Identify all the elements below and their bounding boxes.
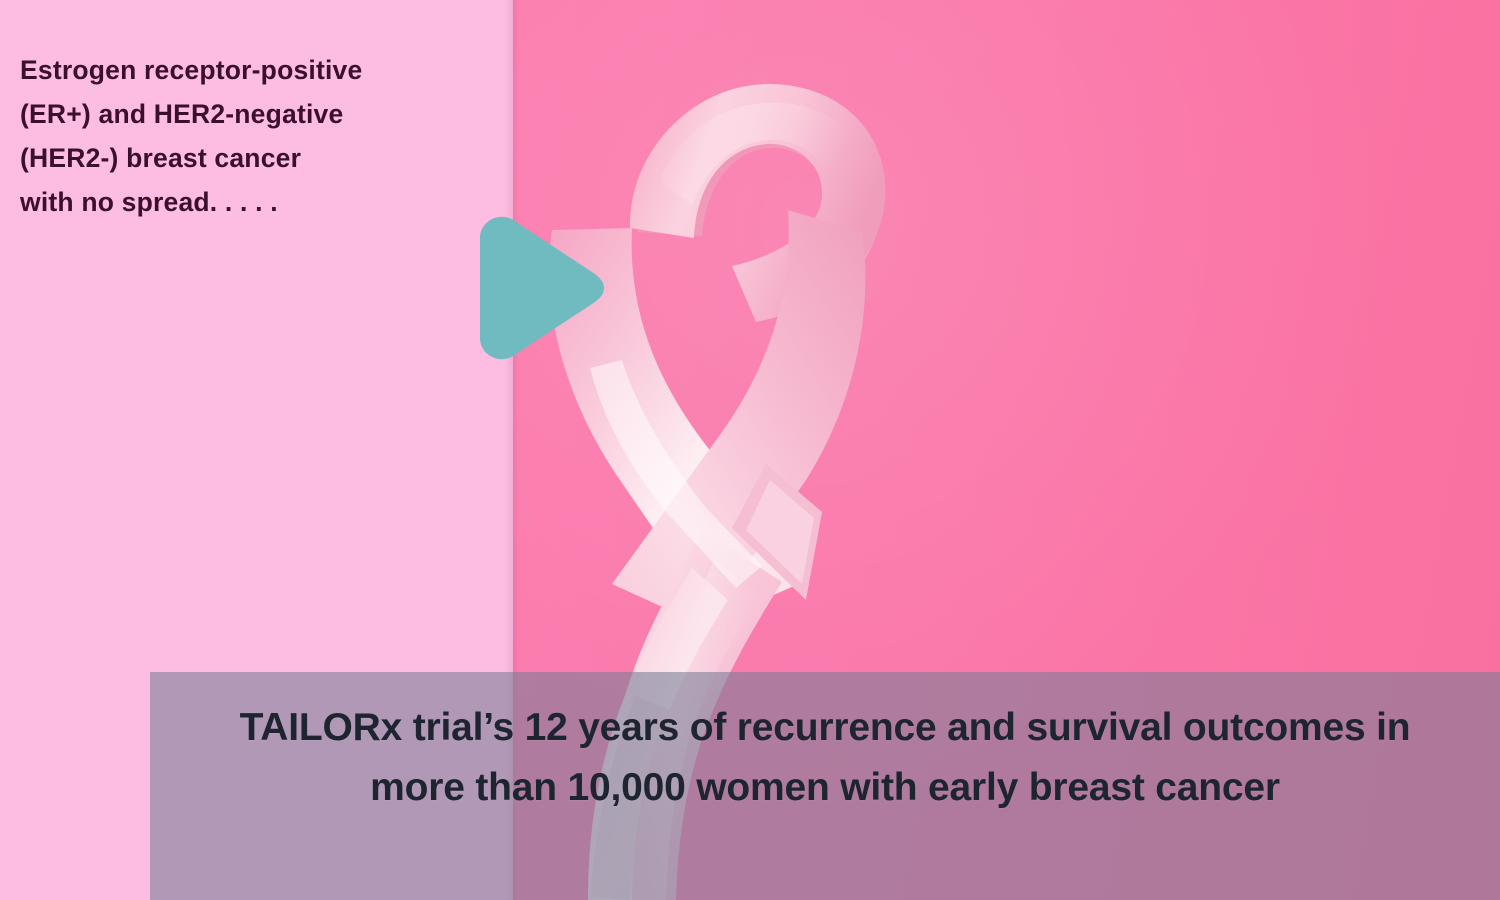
caption-headline: TAILORx trial’s 12 years of recurrence a… [202, 698, 1448, 818]
lede-paragraph: Estrogen receptor-positive (ER+) and HER… [20, 48, 490, 224]
play-triangle-icon[interactable] [458, 210, 608, 365]
awareness-graphic-card: Estrogen receptor-positive (ER+) and HER… [0, 0, 1500, 900]
caption-band: TAILORx trial’s 12 years of recurrence a… [150, 672, 1500, 900]
